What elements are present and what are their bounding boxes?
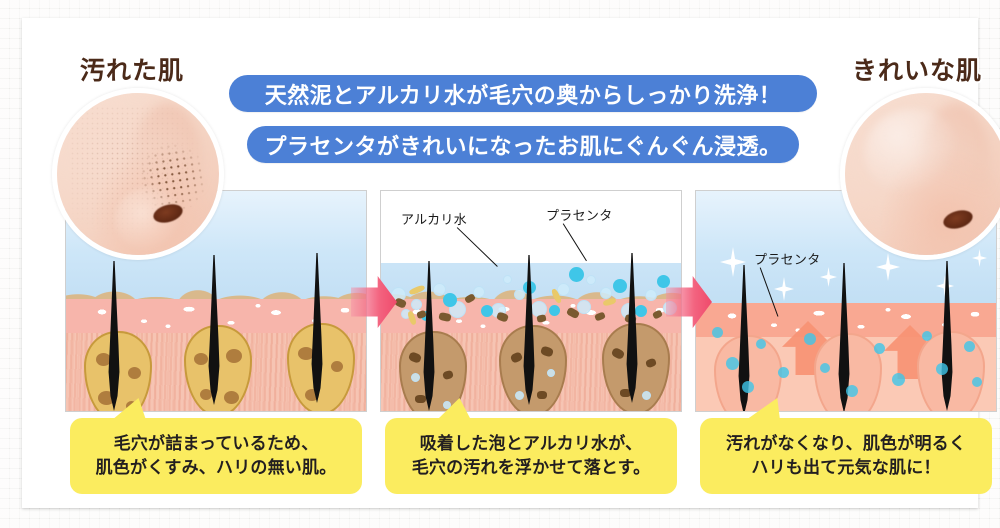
placenta-dot [804,333,816,345]
caption-washing: 吸着した泡とアルカリ水が、 毛穴の汚れを浮かせて落とす。 [385,418,677,494]
follicle-clogged [76,309,160,412]
placenta-dot [726,357,739,370]
placenta-dot [712,327,723,338]
clean-skin-label: きれいな肌 [852,51,982,87]
nose-photo-clean [840,88,1000,260]
infographic-card: 汚れた肌 きれいな肌 天然泥とアルカリ水が毛穴の奥からしっかり洗浄！ プラセンタ… [22,18,978,508]
placenta-dot [756,339,766,349]
sebum-plug [128,367,141,379]
caption-line-1: 毛穴が詰まっているため、 [114,432,319,456]
placenta-dot [846,385,858,397]
label-alkaline-water: アルカリ水 [401,209,467,228]
banner-cleansing: 天然泥とアルカリ水が毛穴の奥からしっかり洗浄！ [229,75,817,112]
caption-line-2: ハリも出て元気な肌に！ [751,456,940,480]
caption-clean-skin: 汚れがなくなり、肌色が明るく ハリも出て元気な肌に！ [700,418,992,494]
sebum-plug [96,353,111,366]
follicle-clogged [176,303,260,412]
label-placenta: プラセンタ [754,249,821,268]
caption-line-1: 汚れがなくなり、肌色が明るく [726,432,966,456]
dirt-particle [537,391,547,399]
placenta-dot [964,341,975,352]
follicle-clean [806,311,890,412]
sebum-plug [298,347,314,360]
follicle-washing [391,309,475,412]
caption-dirty-skin: 毛穴が詰まっているため、 肌色がくすみ、ハリの無い肌。 [70,418,362,494]
placenta-dot [972,377,982,387]
sebum-plug [224,391,239,404]
placenta-dot [892,373,905,386]
nose-highlight [864,109,961,198]
nose-photo-dirty [52,88,224,260]
placenta-dot [778,367,789,378]
caption-line-2: 毛穴の汚れを浮かせて落とす。 [412,456,651,480]
banner-placenta: プラセンタがきれいになったお肌にぐんぐん浸透。 [247,126,799,163]
dirty-skin-label: 汚れた肌 [80,51,184,87]
sebum-plug [200,389,212,400]
follicle-washing [594,301,678,412]
follicle-clean [909,309,993,412]
caption-line-1: 吸着した泡とアルカリ水が、 [420,432,643,456]
placenta-dot [742,381,754,393]
dirt-particle [415,395,426,403]
sebum-plug [194,353,208,365]
placenta-dot [936,363,948,375]
sebum-plug [226,349,242,363]
placenta-dot [820,363,830,373]
placenta-dot [922,331,932,341]
follicle-washing [491,303,575,412]
panel-washing: アルカリ水 プラセンタ [380,190,682,412]
placenta-dot [874,343,885,354]
sebum-plug [331,361,343,372]
follicle-clogged [279,301,363,412]
label-placenta: プラセンタ [546,205,613,224]
caption-line-2: 肌色がくすみ、ハリの無い肌。 [96,456,337,480]
